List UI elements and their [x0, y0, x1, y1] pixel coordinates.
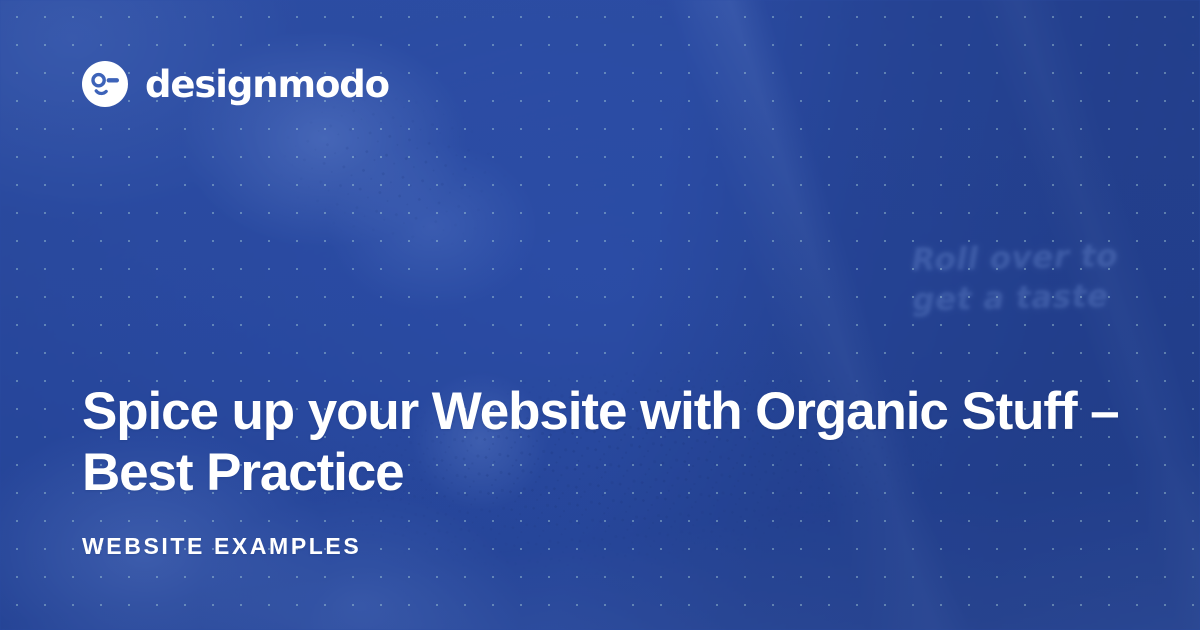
page-title: Spice up your Website with Organic Stuff… [82, 381, 1120, 503]
designmodo-face-logo-icon [82, 61, 128, 107]
article-category-label: WEBSITE EXAMPLES [82, 533, 1120, 560]
article-text-block: Spice up your Website with Organic Stuff… [82, 381, 1120, 560]
article-social-card: Roll over to get a taste designmodo Spic… [0, 0, 1200, 630]
brand-logo[interactable]: designmodo [82, 60, 1120, 108]
headline-line-1: Spice up your Website with Organic Stuff [82, 382, 1077, 441]
card-content: designmodo Spice up your Website with Or… [0, 0, 1200, 630]
brand-wordmark: designmodo [145, 66, 389, 103]
